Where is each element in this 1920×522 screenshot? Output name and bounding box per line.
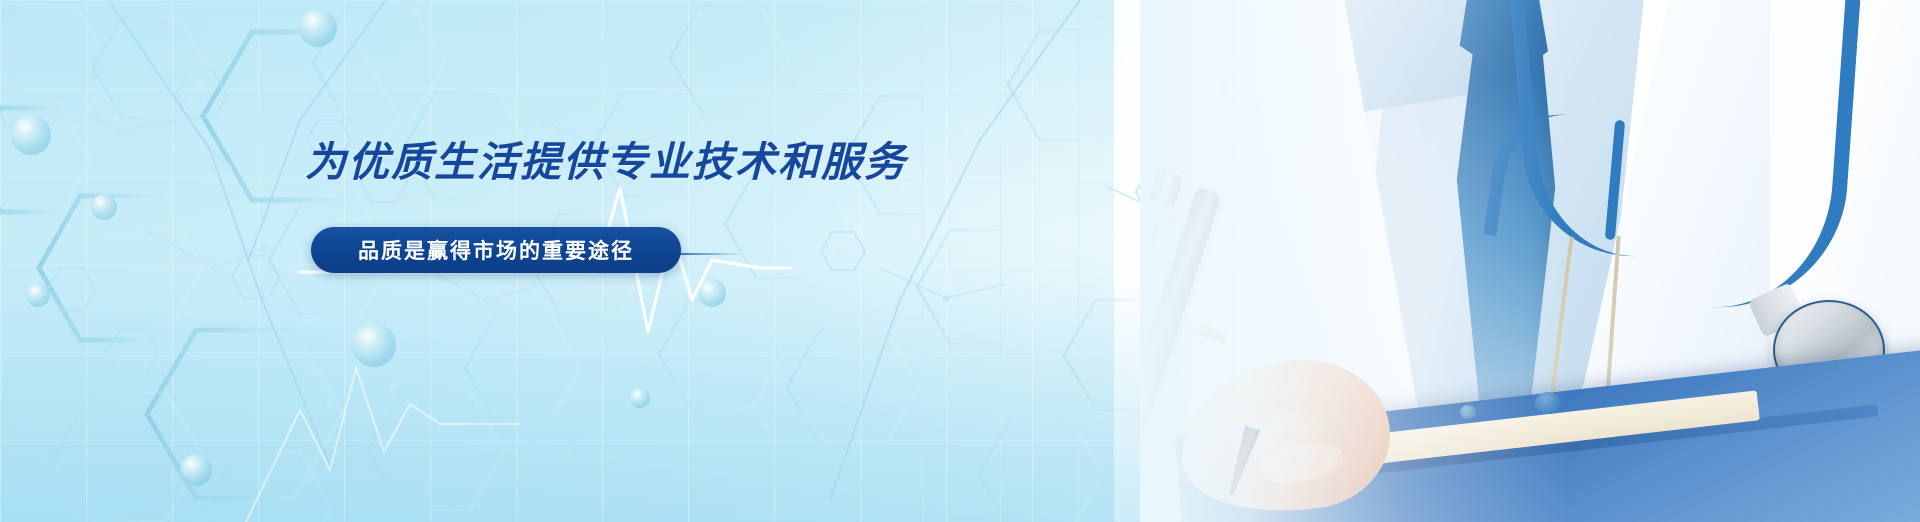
banner-headline: 为优质生活提供专业技术和服务 [305, 128, 907, 188]
banner-content: 为优质生活提供专业技术和服务 Quality wins Future 品质是赢得… [0, 0, 1920, 522]
hero-banner: 为优质生活提供专业技术和服务 Quality wins Future 品质是赢得… [0, 0, 1920, 522]
cta-button[interactable]: 品质是赢得市场的重要途径 [311, 227, 681, 273]
